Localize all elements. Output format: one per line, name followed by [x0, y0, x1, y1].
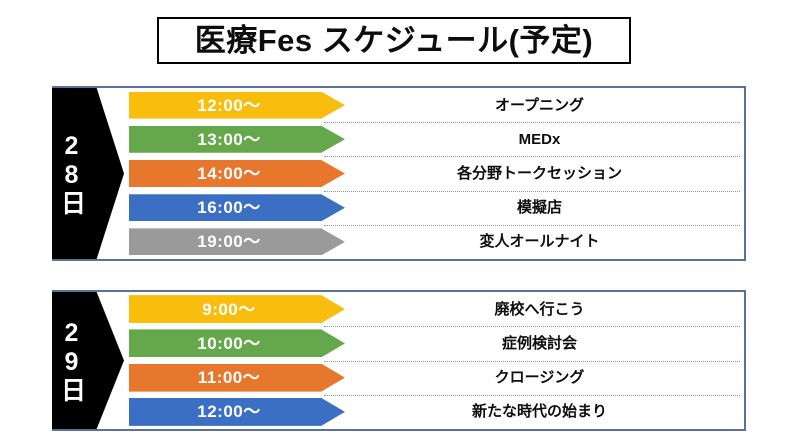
time-label: 13:00〜	[197, 131, 276, 148]
schedule-row[interactable]: 19:00〜 変人オールナイト	[124, 225, 744, 259]
event-cell: 新たな時代の始まり	[345, 404, 744, 419]
schedule-row[interactable]: 9:00〜 廃校へ行こう	[124, 292, 744, 326]
time-bar: 13:00〜	[129, 126, 345, 153]
time-label: 19:00〜	[197, 233, 276, 250]
time-label: 12:00〜	[197, 403, 276, 420]
time-label: 11:00〜	[198, 369, 277, 386]
event-cell: 変人オールナイト	[345, 234, 744, 249]
event-label: オープニング	[495, 98, 584, 113]
time-label: 14:00〜	[197, 165, 276, 182]
schedule-row[interactable]: 12:00〜 オープニング	[124, 88, 744, 122]
schedule-rows-day-29: 9:00〜 廃校へ行こう 10:00〜 症例検討会 11:00〜 クロージング	[124, 292, 744, 429]
event-label: 新たな時代の始まり	[472, 404, 607, 419]
schedule-row[interactable]: 14:00〜 各分野トークセッション	[124, 156, 744, 190]
time-label: 12:00〜	[197, 97, 276, 114]
event-label: 各分野トークセッション	[457, 166, 622, 181]
time-label: 9:00〜	[202, 301, 272, 318]
event-label: 変人オールナイト	[479, 234, 599, 249]
event-cell: MEDx	[345, 132, 744, 147]
day-marker-label: 29日	[58, 319, 84, 403]
time-label: 10:00〜	[197, 335, 276, 352]
schedule-row[interactable]: 10:00〜 症例検討会	[124, 326, 744, 360]
day-marker-label: 28日	[58, 132, 84, 216]
time-bar: 12:00〜	[129, 92, 345, 119]
time-bar: 12:00〜	[129, 398, 345, 426]
event-label: 廃校へ行こう	[494, 302, 584, 317]
time-bar: 11:00〜	[129, 364, 345, 392]
time-bar: 9:00〜	[129, 295, 345, 323]
event-cell: 廃校へ行こう	[345, 302, 744, 317]
event-cell: 各分野トークセッション	[345, 166, 744, 181]
schedule-block-day-28: 28日 12:00〜 オープニング 13:00〜 MEDx 14:00〜 各分野…	[52, 86, 746, 261]
event-cell: クロージング	[345, 370, 744, 385]
schedule-block-day-29: 29日 9:00〜 廃校へ行こう 10:00〜 症例検討会 11:00〜 クロー…	[52, 290, 746, 431]
event-label: 症例検討会	[502, 336, 577, 351]
page-title-box: 医療Fes スケジュール(予定)	[157, 17, 631, 64]
schedule-row[interactable]: 16:00〜 模擬店	[124, 191, 744, 225]
schedule-row[interactable]: 11:00〜 クロージング	[124, 361, 744, 395]
event-label: クロージング	[495, 370, 585, 385]
event-cell: 模擬店	[345, 200, 744, 215]
event-cell: オープニング	[345, 98, 744, 113]
time-bar: 16:00〜	[129, 194, 345, 221]
time-bar: 10:00〜	[129, 329, 345, 357]
schedule-row[interactable]: 12:00〜 新たな時代の始まり	[124, 395, 744, 429]
time-label: 16:00〜	[197, 199, 276, 216]
event-label: MEDx	[519, 132, 561, 147]
event-label: 模擬店	[517, 200, 562, 215]
event-cell: 症例検討会	[345, 336, 744, 351]
page-title: 医療Fes スケジュール(予定)	[195, 25, 594, 56]
time-bar: 19:00〜	[129, 228, 345, 255]
day-marker-29: 29日	[52, 292, 124, 429]
day-marker-28: 28日	[52, 88, 124, 259]
time-bar: 14:00〜	[129, 160, 345, 187]
schedule-rows-day-28: 12:00〜 オープニング 13:00〜 MEDx 14:00〜 各分野トークセ…	[124, 88, 744, 259]
schedule-row[interactable]: 13:00〜 MEDx	[124, 122, 744, 156]
